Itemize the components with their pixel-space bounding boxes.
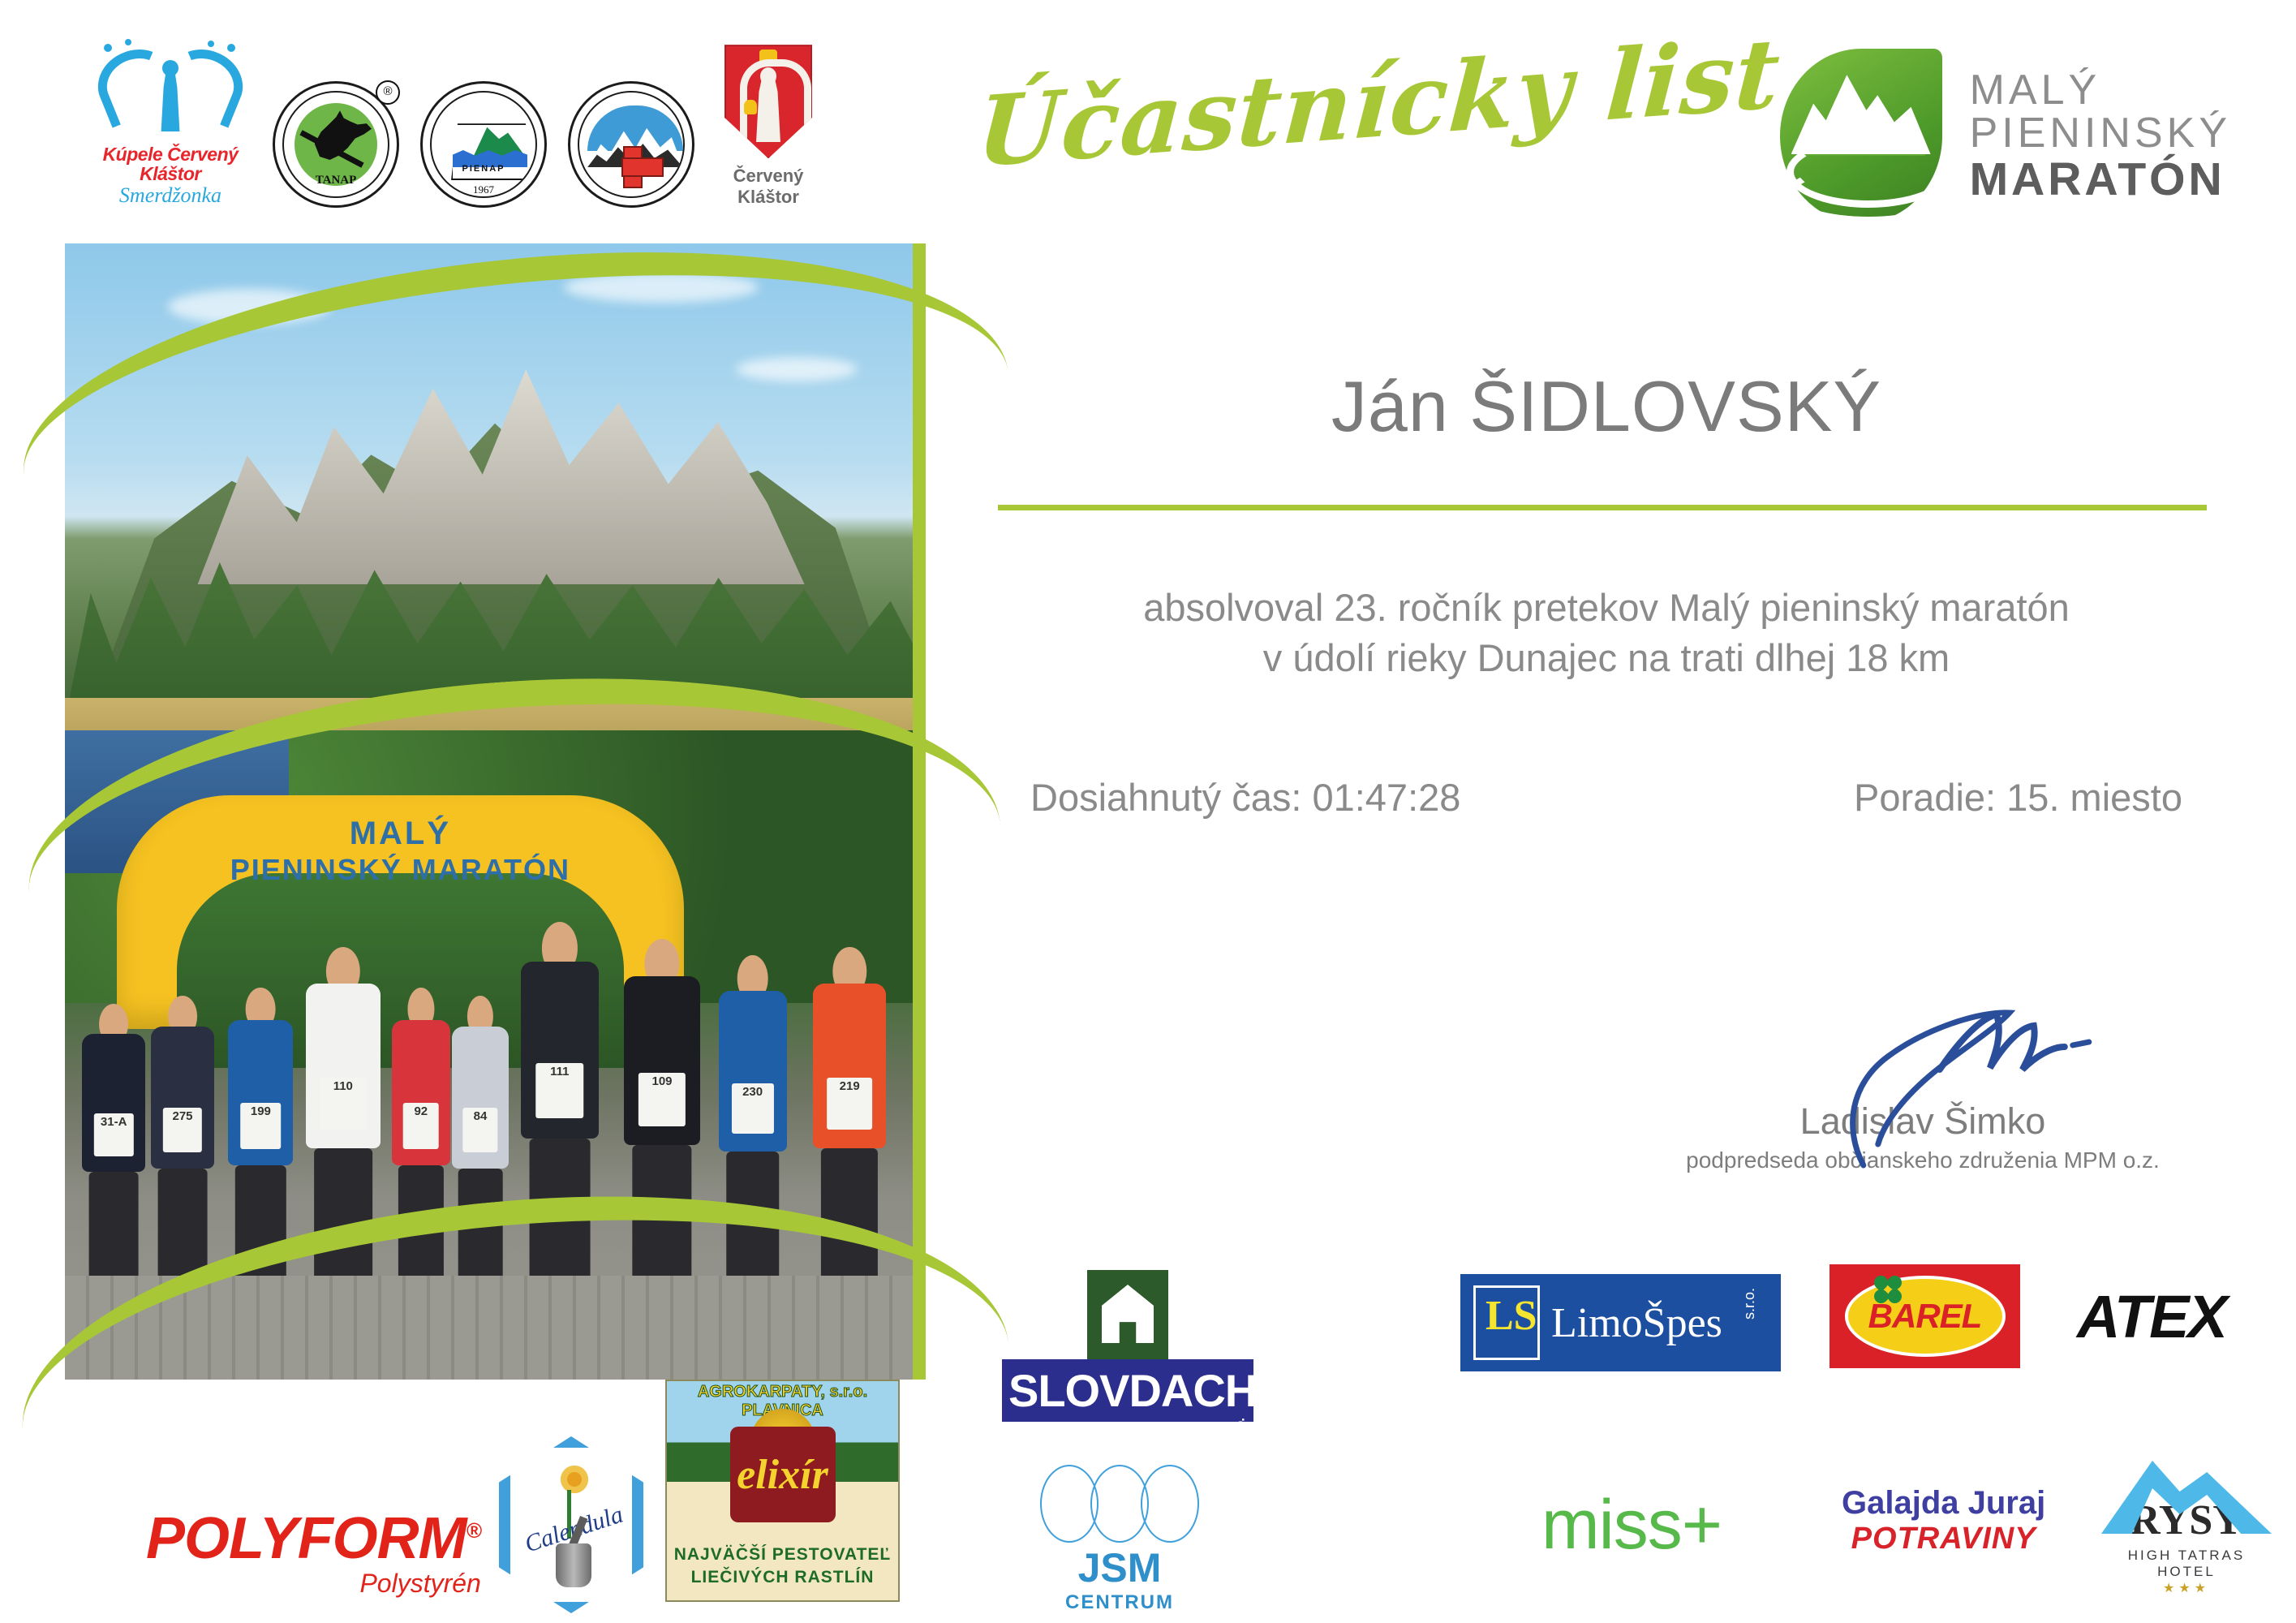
sponsor-name: JSM [1014,1544,1225,1591]
bib-number: 219 [827,1078,872,1130]
arch-line-1: MALÝ [142,815,658,853]
angel-water-wings-icon [89,39,252,144]
sponsor-line-1: NAJVÄČŠÍ PESTOVATEĽ [667,1545,898,1565]
sponsor-galajda-juraj: Galajda Juraj POTRAVINY [1842,1485,2045,1556]
partner-logo-strip: Kúpele Červený Kláštor Smerdžonka TANAP … [89,39,821,208]
sponsor-agrokarpaty: AGROKARPATY, s.r.o. PLAVNICA elixír NAJV… [665,1380,900,1602]
bib-number: 111 [535,1063,584,1119]
sponsor-jsm-centrum: JSM CENTRUM [1014,1465,1225,1614]
sponsor-subtitle: POTRAVINY [1842,1522,2045,1556]
sponsor-subtitle: HIGH TATRAS HOTEL [2101,1548,2272,1580]
registered-icon: ® [376,80,400,105]
green-right-edge [913,243,926,1380]
roof-house-icon [1087,1270,1168,1359]
body-line-2: v údolí rieky Dunajec na trati dlhej 18 … [998,633,2215,683]
sponsor-slovdach: SLOVDACH s.r.o. [1002,1270,1253,1422]
mountain-icon [2101,1453,2272,1534]
brand-line-2: PIENINSKÝ [1970,112,2231,156]
certificate-canvas: Kúpele Červený Kláštor Smerdžonka TANAP … [0,0,2296,1623]
signature-mark-icon [1639,1006,2207,1128]
plus-icon: + [1682,1486,1722,1564]
bib-number: 109 [638,1073,686,1126]
runner-crowd: 31-A 275 199 110 92 84 111 109 230 219 [65,925,925,1289]
clover-icon [1874,1276,1902,1303]
partner-logo-statne-lesy-tanapu: TANAP ® [273,81,399,208]
placement: Poradie: 15. miesto [1854,775,2182,820]
partner-name: Kúpele Červený Kláštor [89,144,252,183]
arch-text: MALÝ PIENINSKÝ MARATÓN [142,815,658,888]
partner-logo-kupele-cerveny-klastor: Kúpele Červený Kláštor Smerdžonka [89,39,252,208]
brand-logo: MALÝ PIENINSKÝ MARATÓN [1780,49,2231,223]
sponsor-limospes: LS LimoŠpes s.r.o. [1460,1274,1781,1371]
shower-icon [1141,1465,1199,1543]
sponsor-rysy-hotel: RYSY HIGH TATRAS HOTEL ★★★ [2101,1453,2272,1596]
coat-of-arms-icon [724,45,812,158]
bib-number: 84 [462,1108,497,1152]
runners-start-photo: MALÝ PIENINSKÝ MARATÓN 31-A 275 199 110 … [65,730,925,1380]
page-title: Účastnícky list [974,11,1791,193]
sponsor-polyform: POLYFORM® Polystyrén [146,1505,481,1599]
sponsor-name: LimoŠpes [1551,1299,1722,1347]
star-rating-icon: ★★★ [2101,1580,2272,1596]
sponsor-barel: BAREL [1829,1264,2020,1368]
partner-logo-cerveny-klastor: Červený Kláštor [716,45,821,208]
sponsor-suffix: s.r.o. [1741,1288,1758,1319]
sponsor-name: POLYFORM [146,1506,467,1571]
mountain-rescue-seal-icon [568,81,694,208]
brand-line-1: MALÝ [1970,69,2231,113]
pienap-seal-icon: PIENAP 1967 [420,81,547,208]
signature-block: Ladislav Šimko podpredseda občianskeho z… [1639,1006,2207,1173]
sponsor-miss-plus: miss+ [1541,1485,1722,1565]
arch-line-2: PIENINSKÝ MARATÓN [142,853,658,887]
registered-icon: ® [467,1518,481,1543]
limospes-mark-icon: LS [1473,1285,1540,1360]
bib-number: 199 [241,1103,282,1148]
partner-subtitle: Smerdžonka [89,183,252,208]
recipient-name: Ján ŠIDLOVSKÝ [998,365,2215,448]
body-line-1: absolvoval 23. ročník pretekov Malý pien… [998,583,2215,633]
pienap-label: PIENAP [432,164,535,174]
sponsor-subtitle: CENTRUM [1014,1591,1225,1614]
bib-number: 31-A [94,1113,133,1156]
sponsor-suffix: s.r.o. [1232,1419,1249,1446]
sponsor-name: SLOVDACH [1008,1365,1257,1416]
bib-number: 275 [163,1108,202,1152]
bib-number: 230 [732,1083,774,1134]
sponsor-calendula: Calendula [499,1436,629,1613]
sponsor-subtitle: Polystyrén [146,1569,481,1599]
leaf-mountain-icon [1780,49,1942,223]
certificate-body: absolvoval 23. ročník pretekov Malý pien… [998,583,2215,683]
partner-name: Červený Kláštor [716,166,821,208]
sponsor-name: elixír [737,1451,828,1499]
partner-logo-pienap: PIENAP 1967 [420,81,547,208]
pienap-year: 1967 [423,183,544,196]
partner-logo-horska-sluzba [568,81,694,208]
brand-line-3: MARATÓN [1970,156,2231,204]
photo-column: MALÝ PIENINSKÝ MARATÓN 31-A 275 199 110 … [65,243,925,1380]
sponsor-line-2: LIEČIVÝCH RASTLÍN [667,1568,898,1587]
chamois-seal-icon: TANAP ® [273,81,399,208]
sponsor-name: miss [1541,1486,1682,1564]
bib-number: 110 [320,1078,366,1130]
tanap-monogram: TANAP [316,175,357,185]
divider-rule [998,505,2207,510]
sponsor-atex: ATEX [2077,1282,2226,1351]
sponsor-name: Galajda Juraj [1842,1485,2045,1522]
bib-number: 92 [402,1103,439,1148]
mortar-pestle-flower-icon: Calendula [499,1436,643,1613]
result-row: Dosiahnutý čas: 01:47:28 Poradie: 15. mi… [998,775,2215,820]
mountain-river-photo [65,243,925,811]
achieved-time: Dosiahnutý čas: 01:47:28 [1030,775,1460,820]
